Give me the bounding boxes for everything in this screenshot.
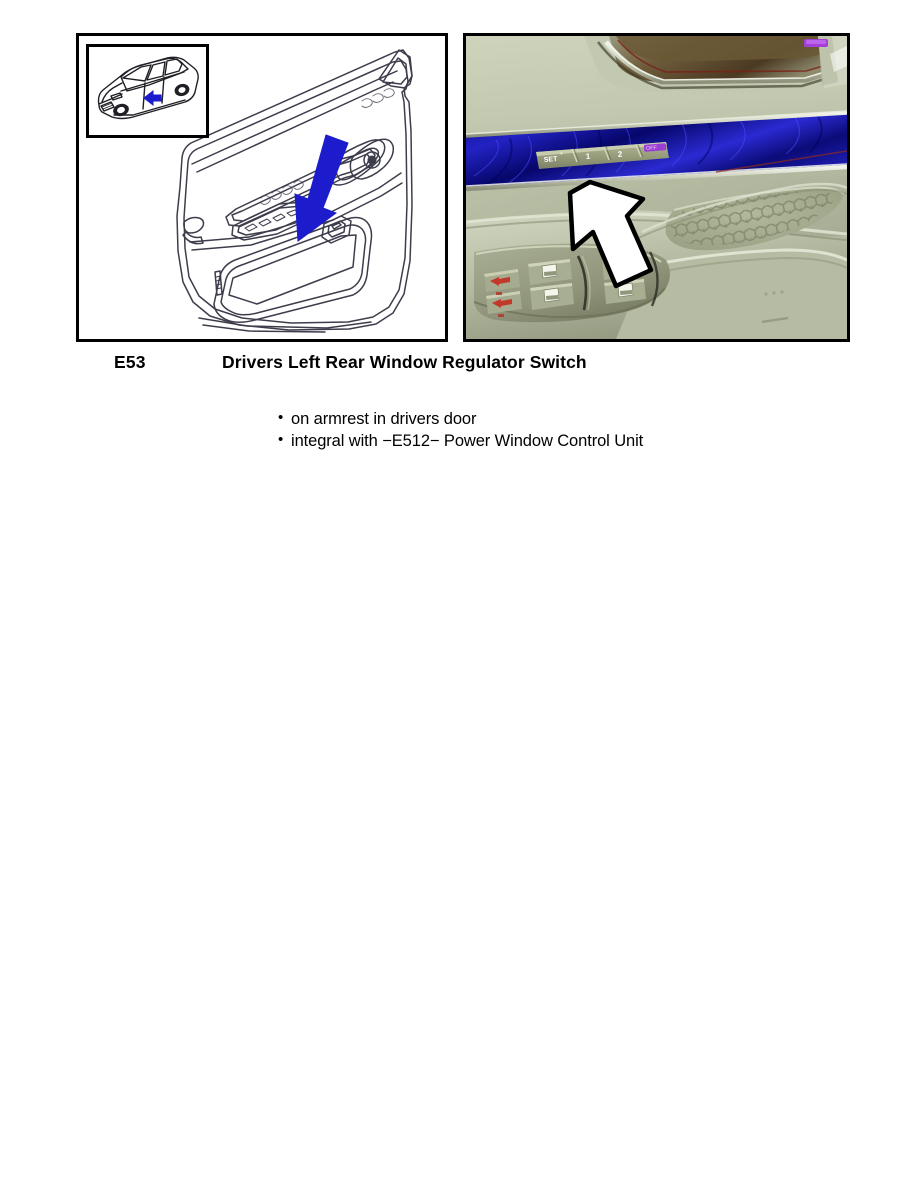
door-photo-svg: SET ● 1 2 OFF: [466, 36, 847, 339]
vehicle-overview-inset: [86, 44, 209, 138]
figure-row: SET ● 1 2 OFF: [76, 33, 850, 346]
memory-button-set-sup: ●: [560, 151, 564, 157]
memory-bar-badge-label: OFF: [646, 145, 658, 152]
door-panel-photo: SET ● 1 2 OFF: [463, 33, 850, 342]
component-code: E53: [114, 352, 146, 373]
inset-arrow-blue: [144, 91, 161, 105]
memory-button-set-label: SET: [544, 156, 559, 164]
component-name: Drivers Left Rear Window Regulator Switc…: [222, 352, 587, 373]
door-panel-line-drawing: [76, 33, 448, 342]
vehicle-inset-svg: [89, 47, 206, 135]
note-item: on armrest in drivers door: [278, 408, 718, 430]
figure-caption: E53 Drivers Left Rear Window Regulator S…: [0, 352, 918, 378]
component-notes: on armrest in drivers door integral with…: [278, 408, 718, 452]
note-item: integral with −E512− Power Window Contro…: [278, 430, 718, 452]
